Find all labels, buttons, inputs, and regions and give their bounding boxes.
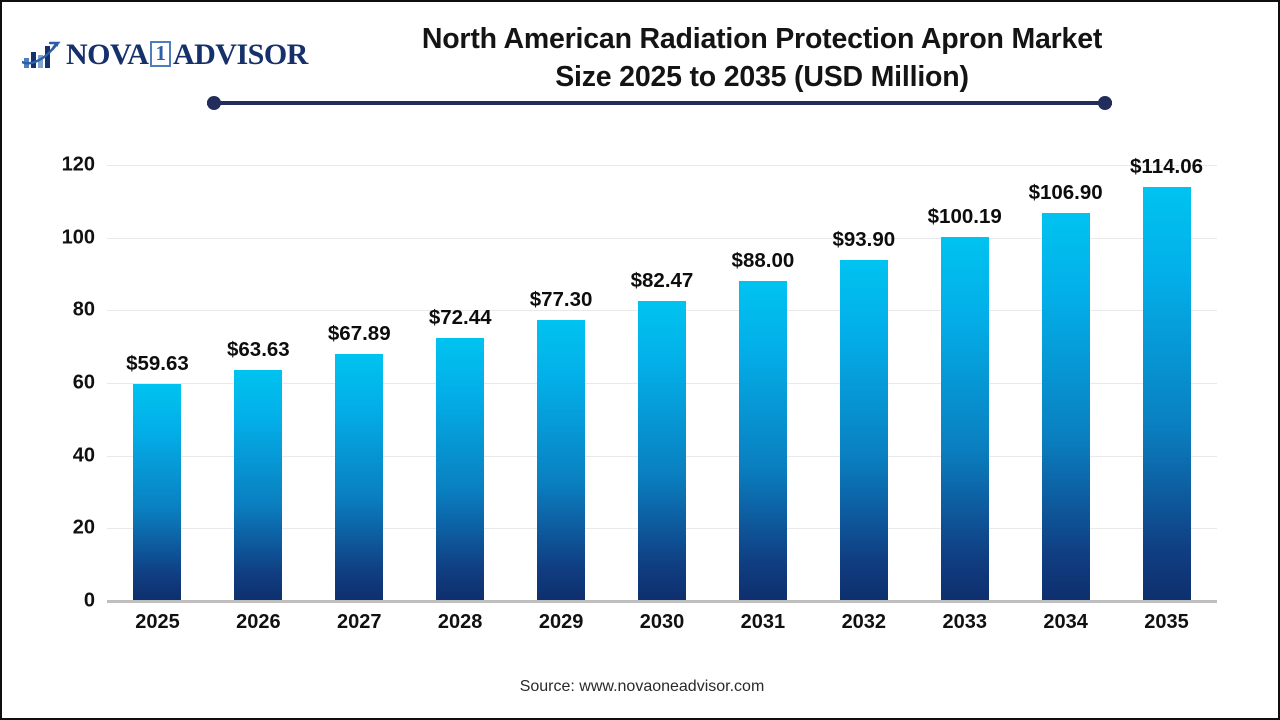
x-axis-tick-label: 2026	[208, 611, 309, 634]
x-axis-tick-label: 2030	[612, 611, 713, 634]
x-axis-tick-label: 2034	[1015, 611, 1116, 634]
bar-value-label: $88.00	[706, 249, 819, 273]
y-axis-tick-label: 60	[25, 372, 95, 395]
bar-2030[interactable]	[638, 301, 686, 601]
bar-2031[interactable]	[739, 281, 787, 601]
bar-2032[interactable]	[840, 260, 888, 601]
bar-value-label: $82.47	[606, 269, 719, 293]
bar-value-label: $93.90	[807, 228, 920, 252]
x-axis-tick-label: 2028	[410, 611, 511, 634]
y-axis-tick-label: 100	[25, 226, 95, 249]
bar-group: $114.062035	[1116, 165, 1217, 601]
chart-page: NOVA 1 ADVISOR North American Radiation …	[0, 0, 1280, 720]
y-axis-tick-label: 80	[25, 299, 95, 322]
bar-group: $93.902032	[813, 165, 914, 601]
bar-2029[interactable]	[537, 320, 585, 601]
bar-2035[interactable]	[1143, 187, 1191, 601]
divider-dot-right	[1098, 96, 1112, 110]
bar-2028[interactable]	[436, 338, 484, 601]
bar-value-label: $77.30	[505, 288, 618, 312]
title-divider	[207, 96, 1112, 110]
bar-group: $63.632026	[208, 165, 309, 601]
bar-group: $72.442028	[410, 165, 511, 601]
bar-group: $59.632025	[107, 165, 208, 601]
bar-value-label: $72.44	[404, 306, 517, 330]
logo-word-nova: NOVA	[66, 40, 148, 70]
bar-group: $106.902034	[1015, 165, 1116, 601]
bar-value-label: $63.63	[202, 338, 315, 362]
x-axis-tick-label: 2027	[309, 611, 410, 634]
x-axis-tick-label: 2033	[914, 611, 1015, 634]
bar-value-label: $59.63	[101, 352, 214, 376]
bar-group: $100.192033	[914, 165, 1015, 601]
bar-2026[interactable]	[234, 370, 282, 601]
x-axis-tick-label: 2031	[712, 611, 813, 634]
chart-plot-area: 020406080100120 $59.632025$63.632026$67.…	[107, 165, 1217, 601]
x-axis-tick-label: 2029	[511, 611, 612, 634]
bar-2034[interactable]	[1042, 213, 1090, 601]
bar-group: $88.002031	[712, 165, 813, 601]
x-axis-tick-label: 2032	[813, 611, 914, 634]
brand-logo: NOVA 1 ADVISOR	[22, 34, 308, 76]
x-axis-tick-label: 2035	[1116, 611, 1217, 634]
bar-2033[interactable]	[941, 237, 989, 601]
bar-2025[interactable]	[133, 384, 181, 601]
divider-line	[207, 101, 1112, 105]
title-line-2: Size 2025 to 2035 (USD Million)	[332, 58, 1192, 96]
y-axis-tick-label: 0	[25, 590, 95, 613]
bar-group: $67.892027	[309, 165, 410, 601]
source-caption: Source: www.novaoneadvisor.com	[2, 678, 1280, 696]
bar-group: $77.302029	[511, 165, 612, 601]
x-axis-line	[107, 600, 1217, 603]
y-axis-tick-label: 20	[25, 517, 95, 540]
bar-value-label: $106.90	[1009, 181, 1122, 205]
bar-series: $59.632025$63.632026$67.892027$72.442028…	[107, 165, 1217, 601]
bar-chart-swoosh-icon	[22, 40, 64, 70]
divider-dot-left	[207, 96, 221, 110]
y-axis-tick-label: 40	[25, 444, 95, 467]
y-axis-tick-label: 120	[25, 154, 95, 177]
x-axis-tick-label: 2025	[107, 611, 208, 634]
bar-value-label: $114.06	[1110, 155, 1223, 179]
bar-group: $82.472030	[612, 165, 713, 601]
title-line-1: North American Radiation Protection Apro…	[332, 20, 1192, 58]
bar-value-label: $67.89	[303, 322, 416, 346]
logo-word-advisor: ADVISOR	[173, 40, 308, 70]
bar-2027[interactable]	[335, 354, 383, 601]
logo-badge-one: 1	[150, 41, 171, 67]
bar-value-label: $100.19	[908, 205, 1021, 229]
page-title: North American Radiation Protection Apro…	[332, 20, 1192, 96]
